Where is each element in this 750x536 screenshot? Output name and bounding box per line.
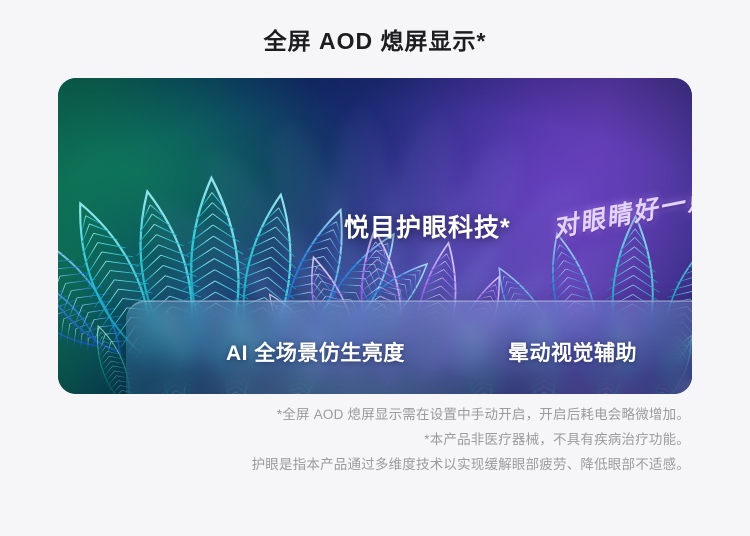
footnote-line-2: *本产品非医疗器械，不具有疾病治疗功能。 [0,427,690,452]
footnote-line-3: 护眼是指本产品通过多维度技术以实现缓解眼部疲劳、降低眼部不适感。 [0,452,690,477]
footnote-line-1: *全屏 AOD 熄屏显示需在设置中手动开启，开启后耗电会略微增加。 [0,402,690,427]
footnotes: *全屏 AOD 熄屏显示需在设置中手动开启，开启后耗电会略微增加。 *本产品非医… [0,402,750,477]
feature-item-1: AI 全场景仿生亮度 [226,337,405,367]
page-title: 全屏 AOD 熄屏显示* [0,22,750,56]
feature-item-2: 晕动视觉辅助 [508,337,637,367]
hero-title: 悦目护眼科技* [344,208,511,244]
promo-page: 全屏 AOD 熄屏显示* [0,0,750,536]
hero-image: 悦目护眼科技* 对眼睛好一点 AI 全场景仿生亮度 晕动视觉辅助 抗疲劳亮度调节… [58,78,692,394]
